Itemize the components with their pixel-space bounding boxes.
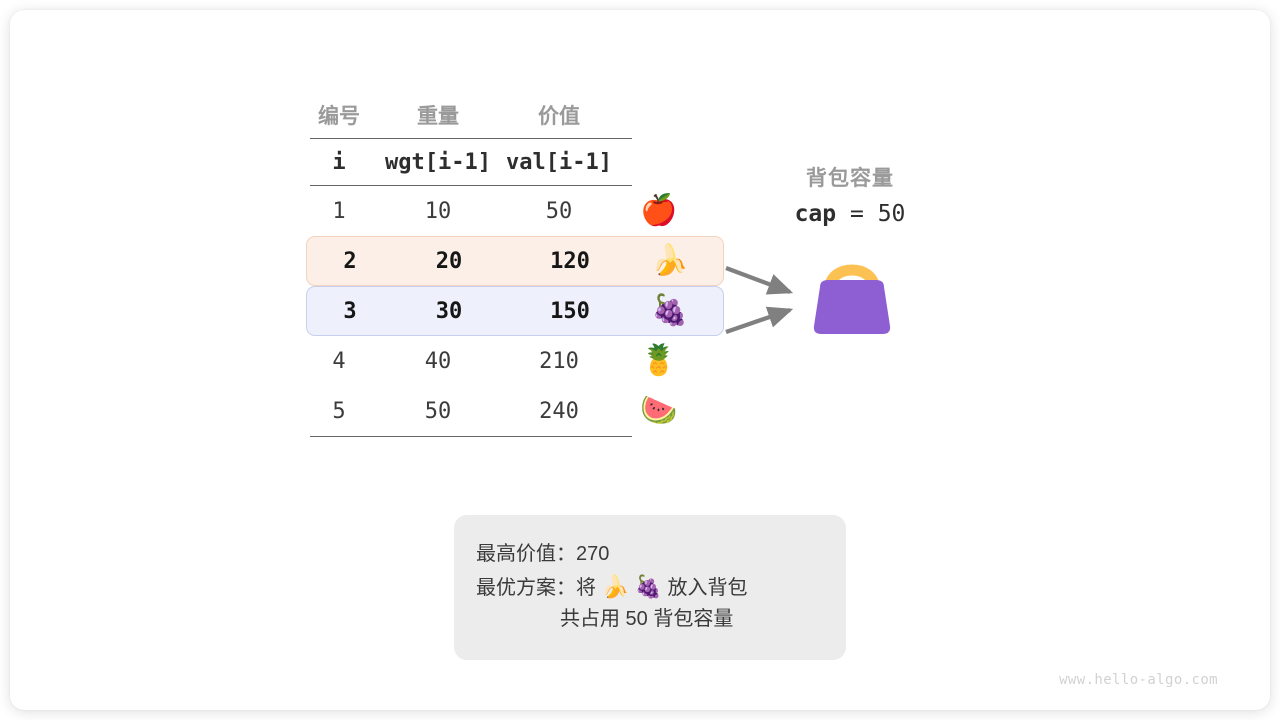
bag-body xyxy=(814,280,890,334)
cell-weight: 40 xyxy=(378,349,498,374)
watermelon-icon: 🍉 xyxy=(620,396,698,426)
capacity-value: 50 xyxy=(878,201,906,227)
table-row-highlighted-blue[interactable]: 3 30 150 🍇 xyxy=(306,286,724,336)
table-row-highlighted-peach[interactable]: 2 20 120 🍌 xyxy=(306,236,724,286)
cell-id: 1 xyxy=(300,199,378,224)
cell-weight: 20 xyxy=(389,249,509,274)
cell-weight: 10 xyxy=(378,199,498,224)
result-info-box: 最高价值：270 最优方案：将 🍌 🍇 放入背包 共占用 50 背包容量 xyxy=(454,515,846,660)
banana-icon: 🍌 xyxy=(602,574,629,599)
watermark: www.hello-algo.com xyxy=(1059,672,1218,688)
apple-icon: 🍎 xyxy=(620,196,698,226)
cell-id: 5 xyxy=(300,399,378,424)
grapes-icon: 🍇 xyxy=(635,574,662,599)
optimal-plan-line: 最优方案：将 🍌 🍇 放入背包 xyxy=(476,570,846,604)
pineapple-icon: 🍍 xyxy=(620,346,698,376)
capacity-var-name: cap xyxy=(795,201,837,227)
banana-icon: 🍌 xyxy=(631,246,709,276)
grapes-icon: 🍇 xyxy=(631,296,709,326)
cell-id: 3 xyxy=(311,299,389,324)
cell-id: 4 xyxy=(300,349,378,374)
capacity-label: 背包容量 xyxy=(750,162,950,192)
header-code-i: i xyxy=(300,150,378,175)
cell-value: 240 xyxy=(498,399,620,424)
header-cn-weight: 重量 xyxy=(378,100,498,130)
cell-value: 50 xyxy=(498,199,620,224)
header-cn-id: 编号 xyxy=(300,100,378,130)
arrow-to-bag-from-row3 xyxy=(726,310,790,332)
used-capacity-line: 共占用 50 背包容量 xyxy=(476,604,846,635)
cell-weight: 30 xyxy=(389,299,509,324)
cell-value: 210 xyxy=(498,349,620,374)
arrow-to-bag-from-row2 xyxy=(726,268,790,292)
capacity-expression: cap = 50 xyxy=(750,201,950,227)
cell-value: 150 xyxy=(509,299,631,324)
cell-weight: 50 xyxy=(378,399,498,424)
table-row[interactable]: 1 10 50 🍎 xyxy=(300,186,730,236)
cell-value: 120 xyxy=(509,249,631,274)
capacity-equals: = xyxy=(850,201,864,227)
max-value-line: 最高价值：270 xyxy=(476,539,846,570)
table-row[interactable]: 5 50 240 🍉 xyxy=(300,386,730,436)
table-header-chinese: 编号 重量 价值 xyxy=(300,92,730,138)
backpack-icon xyxy=(800,242,904,342)
diagram-canvas: 编号 重量 价值 i wgt[i-1] val[i-1] 1 10 50 🍎 2… xyxy=(10,10,1270,710)
table-row[interactable]: 4 40 210 🍍 xyxy=(300,336,730,386)
cell-id: 2 xyxy=(311,249,389,274)
capacity-block: 背包容量 cap = 50 xyxy=(750,162,950,227)
header-cn-value: 价值 xyxy=(498,100,620,130)
items-table: 编号 重量 价值 i wgt[i-1] val[i-1] 1 10 50 🍎 2… xyxy=(300,92,730,437)
header-code-wgt: wgt[i-1] xyxy=(378,150,498,175)
optimal-plan-suffix: 放入背包 xyxy=(662,577,748,599)
table-header-code: i wgt[i-1] val[i-1] xyxy=(300,139,730,185)
table-rule-bottom xyxy=(310,436,632,437)
header-code-val: val[i-1] xyxy=(498,150,620,175)
optimal-plan-prefix: 最优方案：将 xyxy=(476,577,602,599)
